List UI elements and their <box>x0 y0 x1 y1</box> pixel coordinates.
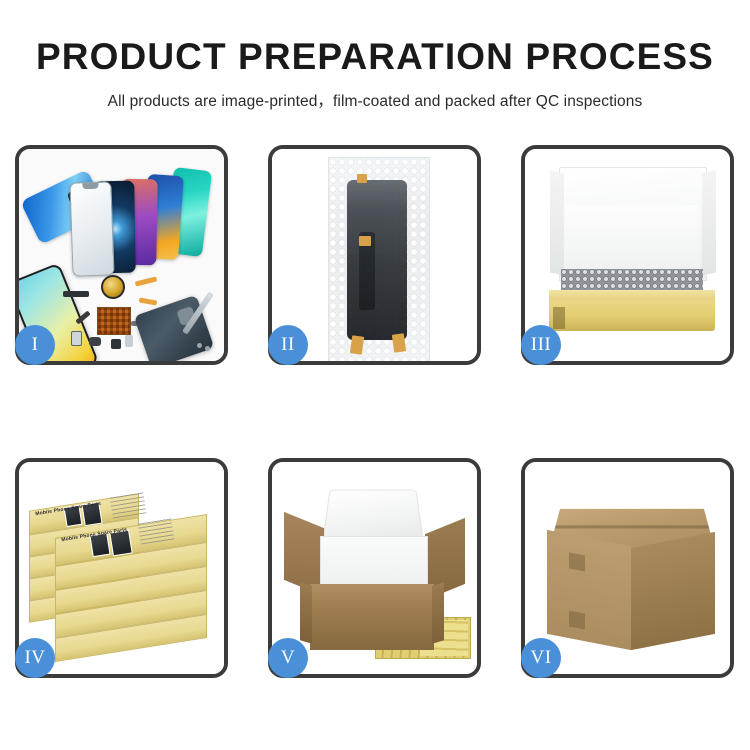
flex-cable-part-graphic <box>139 297 158 305</box>
bubble-wrap-bag-graphic <box>328 157 430 361</box>
process-step-panel-1: I <box>15 145 228 365</box>
small-part-graphic <box>125 335 133 347</box>
tape-graphic <box>392 333 406 352</box>
small-part-graphic <box>71 331 82 346</box>
copper-coil-part-graphic <box>101 275 125 299</box>
step-6-image <box>525 462 730 674</box>
step-badge-4: IV <box>15 638 55 678</box>
page-title: PRODUCT PREPARATION PROCESS <box>0 38 750 77</box>
tape-graphic <box>350 335 364 354</box>
process-step-panel-4: Mobile Phone Spare Parts Mobile Phone Sp… <box>15 458 228 678</box>
step-badge-2: II <box>268 325 308 365</box>
styrofoam-insert-graphic <box>320 536 428 590</box>
header: PRODUCT PREPARATION PROCESS All products… <box>0 0 750 111</box>
carton-tape-graphic <box>569 610 585 629</box>
tape-graphic <box>359 236 371 246</box>
carton-right-face-graphic <box>631 532 715 650</box>
screen-assembly-graphic <box>347 180 407 340</box>
page-subtitle: All products are image-printed，film-coat… <box>0 89 750 111</box>
carton-tape-graphic <box>569 552 585 571</box>
small-part-graphic <box>89 337 101 346</box>
carton-loading-scene <box>272 462 477 674</box>
sealed-carton-scene <box>525 462 730 674</box>
open-foam-box-scene <box>525 149 730 361</box>
process-step-grid: I II III <box>15 145 735 678</box>
process-step-panel-3: III <box>521 145 734 365</box>
step-1-image <box>19 149 224 361</box>
carton-left-face-graphic <box>547 530 631 650</box>
process-step-panel-5: V <box>268 458 481 678</box>
step-2-image <box>272 149 477 361</box>
chip-grid-part-graphic <box>97 307 131 335</box>
screws-graphic <box>197 343 211 351</box>
tape-graphic <box>357 174 367 183</box>
step-4-image: Mobile Phone Spare Parts Mobile Phone Sp… <box>19 462 224 674</box>
stacked-boxes-scene: Mobile Phone Spare Parts Mobile Phone Sp… <box>19 462 224 674</box>
spare-parts-scene <box>19 149 224 361</box>
bubble-wrap-scene <box>272 149 477 361</box>
small-part-graphic <box>111 339 121 349</box>
box-print-lines-graphic <box>109 491 146 518</box>
step-badge-1: I <box>15 325 55 365</box>
step-5-image <box>272 462 477 674</box>
process-step-panel-2: II <box>268 145 481 365</box>
carton-body-graphic <box>310 584 434 650</box>
tempered-glass-graphic <box>69 181 114 276</box>
step-badge-6: VI <box>521 638 561 678</box>
white-foam-sheet-graphic <box>565 205 699 267</box>
step-3-image <box>525 149 730 361</box>
step-badge-3: III <box>521 325 561 365</box>
yellow-box-body-graphic <box>549 297 715 331</box>
connector-part-graphic <box>63 291 89 297</box>
flex-cable-part-graphic <box>135 276 158 286</box>
process-step-panel-6: VI <box>521 458 734 678</box>
step-badge-5: V <box>268 638 308 678</box>
